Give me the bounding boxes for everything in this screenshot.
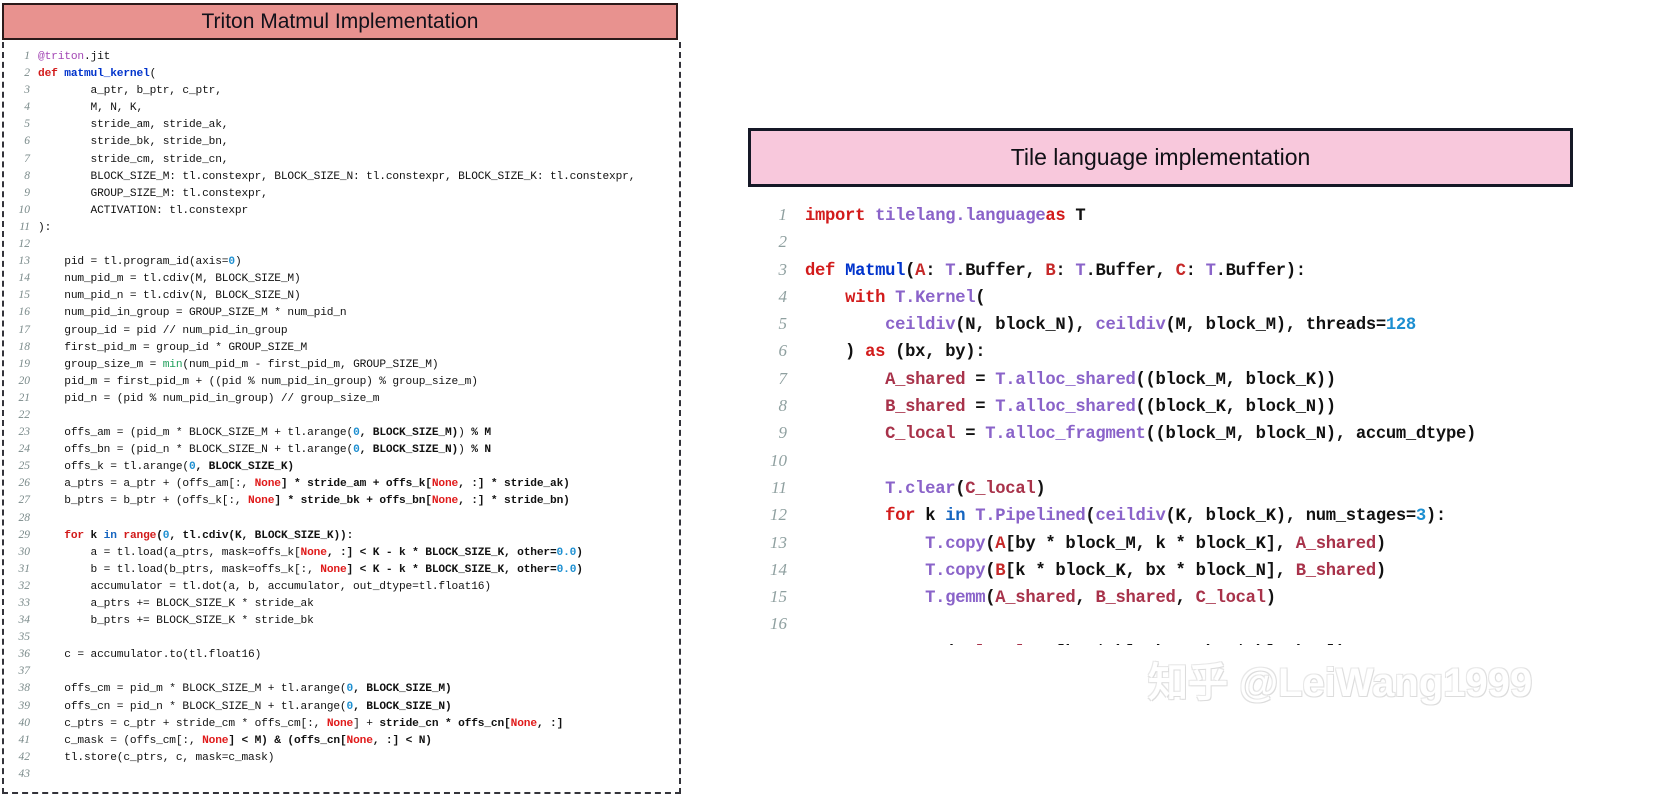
code-token: c_ptrs = c_ptr + stride_cm * offs_cm[:, <box>38 718 327 730</box>
code-line-text: M, N, K, <box>38 102 143 114</box>
code-token: T <box>1075 262 1085 281</box>
code-token: T.alloc_shared <box>995 398 1135 417</box>
code-line: 26 a_ptrs = a_ptr + (offs_am[:, None] * … <box>4 477 681 494</box>
code-line-number: 42 <box>4 751 38 763</box>
code-line-number: 12 <box>4 238 38 250</box>
code-line-number: 22 <box>4 409 38 421</box>
code-line-text: def matmul_kernel( <box>38 68 156 80</box>
code-line: 6 ) as (bx, by): <box>745 341 1476 368</box>
code-line-number: 5 <box>4 118 38 130</box>
code-token: 128 <box>1386 316 1416 335</box>
code-line: 11): <box>4 221 681 238</box>
code-line: 21 pid_n = (pid % num_pid_in_group) // g… <box>4 392 681 409</box>
code-token <box>805 562 925 581</box>
code-line-number: 19 <box>4 358 38 370</box>
code-line-number: 38 <box>4 682 38 694</box>
code-token: ceildiv <box>885 316 955 335</box>
code-token <box>38 530 64 542</box>
code-line-text: @triton.jit <box>38 51 110 63</box>
code-line: 11 T.clear(C_local) <box>745 478 1476 505</box>
code-token: ) <box>235 256 242 268</box>
code-token: T.copy <box>885 644 945 645</box>
code-line: 17 T.copy(C_local, C[by * block_M, bx * … <box>745 642 1476 645</box>
code-line: 4 M, N, K, <box>4 101 681 118</box>
code-token: A <box>915 262 925 281</box>
code-line-number: 10 <box>745 451 805 471</box>
code-token: C <box>1045 644 1055 645</box>
code-line-text: for k in range(0, tl.cdiv(K, BLOCK_SIZE_… <box>38 530 353 542</box>
code-line-number: 8 <box>745 396 805 416</box>
code-token: 0.0 <box>557 547 577 559</box>
code-line-number: 17 <box>745 642 805 645</box>
code-token: ) <box>1035 480 1045 499</box>
code-token: as <box>865 343 895 362</box>
code-line-text: C_local = T.alloc_fragment((block_M, blo… <box>805 425 1476 444</box>
code-line-text: pid_n = (pid % num_pid_in_group) // grou… <box>38 393 379 405</box>
code-token: 0 <box>353 444 360 456</box>
code-line-text: pid_m = first_pid_m + ((pid % num_pid_in… <box>38 376 478 388</box>
code-line-number: 25 <box>4 460 38 472</box>
code-line-text: num_pid_in_group = GROUP_SIZE_M * num_pi… <box>38 307 347 319</box>
code-line-number: 6 <box>745 341 805 361</box>
code-line: 22 <box>4 409 681 426</box>
code-line: 33 a_ptrs += BLOCK_SIZE_K * stride_ak <box>4 597 681 614</box>
code-token: T <box>1206 262 1216 281</box>
code-line: 1import tilelang.languageas T <box>745 205 1476 232</box>
code-line-number: 23 <box>4 426 38 438</box>
code-token: accumulator = tl.dot(a, b, accumulator, … <box>38 581 491 593</box>
code-token: in <box>945 507 975 526</box>
code-line-number: 16 <box>4 306 38 318</box>
code-token: None <box>320 564 346 576</box>
code-line: 15 num_pid_n = tl.cdiv(N, BLOCK_SIZE_N) <box>4 289 681 306</box>
code-token: 0 <box>228 256 235 268</box>
code-token: A_shared <box>885 371 965 390</box>
code-token: ceildiv <box>1095 507 1165 526</box>
code-token: None <box>301 547 327 559</box>
code-line-number: 43 <box>4 768 38 780</box>
code-token: , BLOCK_SIZE_M) <box>360 427 458 439</box>
code-line-number: 9 <box>4 187 38 199</box>
code-token: pid_n = (pid % num_pid_in_group) // grou… <box>38 393 379 405</box>
code-line-number: 2 <box>745 232 805 252</box>
code-line: 30 a = tl.load(a_ptrs, mask=offs_k[None,… <box>4 546 681 563</box>
code-line-text: ceildiv(N, block_N), ceildiv(M, block_M)… <box>805 316 1416 335</box>
code-token: min <box>163 359 183 371</box>
code-line: 25 offs_k = tl.arange(0, BLOCK_SIZE_K) <box>4 460 681 477</box>
code-token: offs_cn = pid_n * BLOCK_SIZE_N + tl.aran… <box>38 701 347 713</box>
code-line: 8 B_shared = T.alloc_shared((block_K, bl… <box>745 396 1476 423</box>
code-token: T <box>1075 207 1085 226</box>
code-token: , :] < K - k * BLOCK_SIZE_K, other= <box>327 547 557 559</box>
code-line-text: accumulator = tl.dot(a, b, accumulator, … <box>38 581 491 593</box>
code-line-number: 40 <box>4 717 38 729</box>
code-line-text: T.gemm(A_shared, B_shared, C_local) <box>805 589 1276 608</box>
triton-panel-title: Triton Matmul Implementation <box>202 10 479 34</box>
code-token: [k * block_K, bx * block_N], <box>1005 562 1295 581</box>
code-token <box>805 589 925 608</box>
code-line-text: c = accumulator.to(tl.float16) <box>38 649 261 661</box>
code-token: None <box>432 495 458 507</box>
code-token: C_local <box>1196 589 1266 608</box>
code-token: num_pid_n = tl.cdiv(N, BLOCK_SIZE_N) <box>38 290 301 302</box>
code-token: 0 <box>189 461 196 473</box>
code-token: , <box>1176 589 1196 608</box>
code-line-number: 9 <box>745 423 805 443</box>
code-line-text: T.copy(C_local, C[by * block_M, bx * blo… <box>805 644 1346 645</box>
code-line-number: 15 <box>745 587 805 607</box>
code-token: None <box>432 478 458 490</box>
code-token: ) <box>1376 562 1386 581</box>
code-line: 35 <box>4 631 681 648</box>
code-token: C_local <box>965 480 1035 499</box>
code-token: ] < M) & (offs_cn[ <box>228 735 346 747</box>
code-line-number: 17 <box>4 324 38 336</box>
code-token: None <box>202 735 228 747</box>
code-token <box>805 507 885 526</box>
code-token: None <box>255 478 281 490</box>
code-token: , BLOCK_SIZE_N) <box>353 701 451 713</box>
code-token: ((block_M, block_N), accum_dtype) <box>1146 425 1476 444</box>
code-token: T.alloc_fragment <box>985 425 1145 444</box>
code-line: 5 stride_am, stride_ak, <box>4 118 681 135</box>
code-token: 0.0 <box>557 564 577 576</box>
code-token: 0 <box>353 427 360 439</box>
code-token <box>805 425 885 444</box>
code-line: 15 T.gemm(A_shared, B_shared, C_local) <box>745 587 1476 614</box>
code-token: matmul_kernel <box>64 68 149 80</box>
code-line-number: 31 <box>4 563 38 575</box>
code-line-text: stride_cm, stride_cn, <box>38 154 228 166</box>
code-token: a_ptrs = a_ptr + (offs_am[:, <box>38 478 255 490</box>
code-line: 28 <box>4 512 681 529</box>
triton-code-lines: 1@triton.jit2def matmul_kernel(3 a_ptr, … <box>4 50 681 785</box>
code-token: C <box>1176 262 1186 281</box>
code-token: A_shared <box>1296 535 1376 554</box>
code-line-text: import tilelang.languageas T <box>805 207 1085 226</box>
code-line-number: 4 <box>745 287 805 307</box>
code-token: , :] * stride_ak) <box>458 478 570 490</box>
code-token: for <box>64 530 84 542</box>
code-token: ( <box>945 644 955 645</box>
code-token: = <box>965 371 995 390</box>
tilelang-panel-title: Tile language implementation <box>1011 144 1311 171</box>
code-token <box>805 371 885 390</box>
code-line-number: 1 <box>4 50 38 62</box>
code-line-number: 2 <box>4 67 38 79</box>
code-line: 7 stride_cm, stride_cn, <box>4 153 681 170</box>
code-token: ( <box>905 262 915 281</box>
code-line-number: 20 <box>4 375 38 387</box>
code-token: ((block_K, block_N)) <box>1136 398 1336 417</box>
code-line: 38 offs_cm = pid_m * BLOCK_SIZE_M + tl.a… <box>4 682 681 699</box>
code-line-number: 12 <box>745 505 805 525</box>
code-token: [by * block_M, bx * block_N]) <box>1055 644 1345 645</box>
code-line-number: 14 <box>4 272 38 284</box>
code-line: 7 A_shared = T.alloc_shared((block_M, bl… <box>745 369 1476 396</box>
code-token: k <box>925 507 945 526</box>
code-line-text: a_ptrs += BLOCK_SIZE_K * stride_ak <box>38 598 314 610</box>
code-token <box>805 535 925 554</box>
code-token: T.Kernel <box>895 289 975 308</box>
code-line: 32 accumulator = tl.dot(a, b, accumulato… <box>4 580 681 597</box>
code-line-number: 11 <box>4 221 38 233</box>
code-token: , <box>1025 644 1045 645</box>
code-line: 12 for k in T.Pipelined(ceildiv(K, block… <box>745 505 1476 532</box>
code-token: T <box>945 262 955 281</box>
code-token: @triton <box>38 51 84 63</box>
code-token: offs_am = (pid_m * BLOCK_SIZE_M + tl.ara… <box>38 427 353 439</box>
code-token: ] + <box>353 718 379 730</box>
code-token <box>805 316 885 335</box>
code-token: ) <box>805 343 865 362</box>
code-token: num_pid_in_group = GROUP_SIZE_M * num_pi… <box>38 307 347 319</box>
code-line-number: 35 <box>4 631 38 643</box>
code-token: ( <box>150 68 157 80</box>
code-token: (bx, by): <box>895 343 985 362</box>
code-line-number: 8 <box>4 170 38 182</box>
code-line-number: 36 <box>4 648 38 660</box>
code-token: [by * block_M, k * block_K], <box>1005 535 1295 554</box>
code-line-text: c_mask = (offs_cm[:, None] < M) & (offs_… <box>38 735 432 747</box>
code-line-number: 32 <box>4 580 38 592</box>
code-line: 16 num_pid_in_group = GROUP_SIZE_M * num… <box>4 306 681 323</box>
code-token: C_local <box>885 425 955 444</box>
code-line: 5 ceildiv(N, block_N), ceildiv(M, block_… <box>745 314 1476 341</box>
code-line-text: pid = tl.program_id(axis=0) <box>38 256 242 268</box>
code-token: ( <box>985 535 995 554</box>
tilelang-panel: Tile language implementation 1import til… <box>745 0 1678 796</box>
code-line-number: 7 <box>745 369 805 389</box>
code-token: ceildiv <box>1095 316 1165 335</box>
code-token: ) <box>1266 589 1276 608</box>
code-token: def <box>805 262 845 281</box>
code-token: Matmul <box>845 262 905 281</box>
code-line: 10 ACTIVATION: tl.constexpr <box>4 204 681 221</box>
code-token: A <box>995 535 1005 554</box>
code-token: group_size_m = <box>38 359 163 371</box>
code-token: offs_bn = (pid_n * BLOCK_SIZE_N + tl.ara… <box>38 444 353 456</box>
code-token: ( <box>975 289 985 308</box>
code-line: 12 <box>4 238 681 255</box>
code-line-text: offs_bn = (pid_n * BLOCK_SIZE_N + tl.ara… <box>38 444 491 456</box>
code-line-text: ACTIVATION: tl.constexpr <box>38 205 248 217</box>
code-token: pid = tl.program_id(axis= <box>38 256 228 268</box>
code-line-number: 33 <box>4 597 38 609</box>
code-line-text: a_ptrs = a_ptr + (offs_am[:, None] * str… <box>38 478 570 490</box>
code-token: stride_cm, stride_cn, <box>38 154 228 166</box>
code-token: B_shared <box>885 398 965 417</box>
code-token: group_id = pid // num_pid_in_group <box>38 325 287 337</box>
code-line-number: 10 <box>4 204 38 216</box>
code-line-number: 30 <box>4 546 38 558</box>
code-token: c = accumulator.to(tl.float16) <box>38 649 261 661</box>
code-token: ( <box>1085 507 1095 526</box>
code-line-text: b_ptrs = b_ptr + (offs_k[:, None] * stri… <box>38 495 570 507</box>
code-line: 24 offs_bn = (pid_n * BLOCK_SIZE_N + tl.… <box>4 443 681 460</box>
tilelang-panel-header: Tile language implementation <box>748 128 1573 187</box>
code-token: T.gemm <box>925 589 985 608</box>
code-token: tl.store(c_ptrs, c, mask=c_mask) <box>38 752 274 764</box>
code-token: GROUP_SIZE_M: tl.constexpr, <box>38 188 268 200</box>
code-line: 4 with T.Kernel( <box>745 287 1476 314</box>
code-token: .Buffer, <box>1085 262 1175 281</box>
code-token: in <box>104 530 117 542</box>
code-line-text: b_ptrs += BLOCK_SIZE_K * stride_bk <box>38 615 314 627</box>
code-line: 18 first_pid_m = group_id * GROUP_SIZE_M <box>4 341 681 358</box>
code-line: 43 <box>4 768 681 785</box>
code-token: ): <box>38 222 51 234</box>
code-line-text: tl.store(c_ptrs, c, mask=c_mask) <box>38 752 274 764</box>
code-line-text: a = tl.load(a_ptrs, mask=offs_k[None, :]… <box>38 547 583 559</box>
code-line-text: offs_am = (pid_m * BLOCK_SIZE_M + tl.ara… <box>38 427 491 439</box>
code-token: B <box>995 562 1005 581</box>
code-line-text: group_id = pid // num_pid_in_group <box>38 325 287 337</box>
code-token: T.copy <box>925 535 985 554</box>
triton-panel-header: Triton Matmul Implementation <box>2 3 678 40</box>
code-token: ((block_M, block_K)) <box>1136 371 1336 390</box>
code-line-number: 3 <box>4 84 38 96</box>
code-line: 27 b_ptrs = b_ptr + (offs_k[:, None] * s… <box>4 494 681 511</box>
code-token: , :] < N) <box>373 735 432 747</box>
tilelang-code-lines: 1import tilelang.languageas T23def Matmu… <box>745 205 1476 645</box>
code-line: 31 b = tl.load(b_ptrs, mask=offs_k[:, No… <box>4 563 681 580</box>
code-line-number: 13 <box>745 533 805 553</box>
code-token: BLOCK_SIZE_M: tl.constexpr, BLOCK_SIZE_N… <box>38 171 635 183</box>
code-line-text: a_ptr, b_ptr, c_ptr, <box>38 85 222 97</box>
code-line-number: 16 <box>745 614 805 634</box>
code-line-number: 29 <box>4 529 38 541</box>
code-line-text: B_shared = T.alloc_shared((block_K, bloc… <box>805 398 1336 417</box>
code-token: M, N, K, <box>38 102 143 114</box>
code-line-text: b = tl.load(b_ptrs, mask=offs_k[:, None]… <box>38 564 583 576</box>
code-token: = <box>965 398 995 417</box>
code-token: (num_pid_m - first_pid_m, GROUP_SIZE_M) <box>182 359 438 371</box>
code-line-text: GROUP_SIZE_M: tl.constexpr, <box>38 188 268 200</box>
code-token: offs_cm = pid_m * BLOCK_SIZE_M + tl.aran… <box>38 683 347 695</box>
code-line-text: offs_k = tl.arange(0, BLOCK_SIZE_K) <box>38 461 294 473</box>
code-token: (K, block_K), num_stages= <box>1166 507 1416 526</box>
code-line-text: stride_am, stride_ak, <box>38 119 228 131</box>
code-line-text: with T.Kernel( <box>805 289 985 308</box>
code-line-number: 37 <box>4 665 38 677</box>
code-token: B_shared <box>1296 562 1376 581</box>
code-line-number: 34 <box>4 614 38 626</box>
code-token: b_ptrs += BLOCK_SIZE_K * stride_bk <box>38 615 314 627</box>
code-token: 3 <box>1416 507 1426 526</box>
code-line-number: 11 <box>745 478 805 498</box>
code-token: T.clear <box>885 480 955 499</box>
code-line-number: 21 <box>4 392 38 404</box>
code-token: ) <box>576 547 583 559</box>
code-token: as <box>1045 207 1075 226</box>
code-token: .Buffer): <box>1216 262 1306 281</box>
code-token: = <box>955 425 985 444</box>
code-token: ) <box>458 427 465 439</box>
triton-code-block: 1@triton.jit2def matmul_kernel(3 a_ptr, … <box>2 42 681 794</box>
code-line-number: 1 <box>745 205 805 225</box>
code-token: ( <box>955 480 965 499</box>
code-line-text: T.clear(C_local) <box>805 480 1045 499</box>
code-line-number: 26 <box>4 477 38 489</box>
code-line: 36 c = accumulator.to(tl.float16) <box>4 648 681 665</box>
code-line: 8 BLOCK_SIZE_M: tl.constexpr, BLOCK_SIZE… <box>4 170 681 187</box>
code-line: 10 <box>745 451 1476 478</box>
code-token: T.copy <box>925 562 985 581</box>
code-line-text: T.copy(A[by * block_M, k * block_K], A_s… <box>805 535 1386 554</box>
tilelang-code-block: 1import tilelang.languageas T23def Matmu… <box>745 205 1678 645</box>
code-line-text: stride_bk, stride_bn, <box>38 136 228 148</box>
code-token: : <box>1186 262 1206 281</box>
code-line-text: group_size_m = min(num_pid_m - first_pid… <box>38 359 438 371</box>
code-line-text: T.copy(B[k * block_K, bx * block_N], B_s… <box>805 562 1386 581</box>
code-token: , :] <box>537 718 563 730</box>
code-token: .Buffer, <box>955 262 1045 281</box>
code-line: 39 offs_cn = pid_n * BLOCK_SIZE_N + tl.a… <box>4 700 681 717</box>
code-line-text: num_pid_n = tl.cdiv(N, BLOCK_SIZE_N) <box>38 290 301 302</box>
code-token: stride_am, stride_ak, <box>38 119 228 131</box>
code-token: ( <box>985 562 995 581</box>
code-line-number: 6 <box>4 135 38 147</box>
code-line-number: 13 <box>4 255 38 267</box>
code-line: 14 T.copy(B[k * block_K, bx * block_N], … <box>745 560 1476 587</box>
code-token: ): <box>1426 507 1446 526</box>
code-token: ACTIVATION: tl.constexpr <box>38 205 248 217</box>
code-line-number: 28 <box>4 512 38 524</box>
code-line-text: for k in T.Pipelined(ceildiv(K, block_K)… <box>805 507 1446 526</box>
code-token: range <box>117 530 156 542</box>
code-token: pid_m = first_pid_m + ((pid % num_pid_in… <box>38 376 478 388</box>
code-token: def <box>38 68 64 80</box>
code-line-text: c_ptrs = c_ptr + stride_cm * offs_cm[:, … <box>38 718 563 730</box>
code-line: 41 c_mask = (offs_cm[:, None] < M) & (of… <box>4 734 681 751</box>
code-line: 2def matmul_kernel( <box>4 67 681 84</box>
triton-panel: Triton Matmul Implementation 1@triton.ji… <box>0 0 682 796</box>
code-token <box>805 289 845 308</box>
code-line: 37 <box>4 665 681 682</box>
code-token: B_shared <box>1095 589 1175 608</box>
code-token: ( <box>156 530 163 542</box>
code-token: a = tl.load(a_ptrs, mask=offs_k[ <box>38 547 301 559</box>
code-line: 13 pid = tl.program_id(axis=0) <box>4 255 681 272</box>
code-token: % M <box>465 427 491 439</box>
code-token: None <box>248 495 274 507</box>
code-line-number: 14 <box>745 560 805 580</box>
code-line-text: ) as (bx, by): <box>805 343 985 362</box>
code-token: B <box>1045 262 1055 281</box>
code-token: , BLOCK_SIZE_M) <box>353 683 451 695</box>
code-token: None <box>511 718 537 730</box>
code-token: a_ptrs += BLOCK_SIZE_K * stride_ak <box>38 598 314 610</box>
code-token <box>805 644 885 645</box>
code-line: 19 group_size_m = min(num_pid_m - first_… <box>4 358 681 375</box>
code-line-number: 5 <box>745 314 805 334</box>
code-token: , BLOCK_SIZE_K) <box>196 461 294 473</box>
code-token: , BLOCK_SIZE_N) <box>360 444 458 456</box>
code-line-text: ): <box>38 222 51 234</box>
code-token: import <box>805 207 875 226</box>
code-token: a_ptr, b_ptr, c_ptr, <box>38 85 222 97</box>
code-token: % N <box>465 444 491 456</box>
code-token: b_ptrs = b_ptr + (offs_k[:, <box>38 495 248 507</box>
code-token: : <box>1055 262 1075 281</box>
code-token: T.Pipelined <box>975 507 1085 526</box>
code-line: 16 <box>745 614 1476 641</box>
code-token: k <box>84 530 104 542</box>
code-line: 17 group_id = pid // num_pid_in_group <box>4 324 681 341</box>
code-token: None <box>347 735 373 747</box>
code-token: b = tl.load(b_ptrs, mask=offs_k[:, <box>38 564 320 576</box>
